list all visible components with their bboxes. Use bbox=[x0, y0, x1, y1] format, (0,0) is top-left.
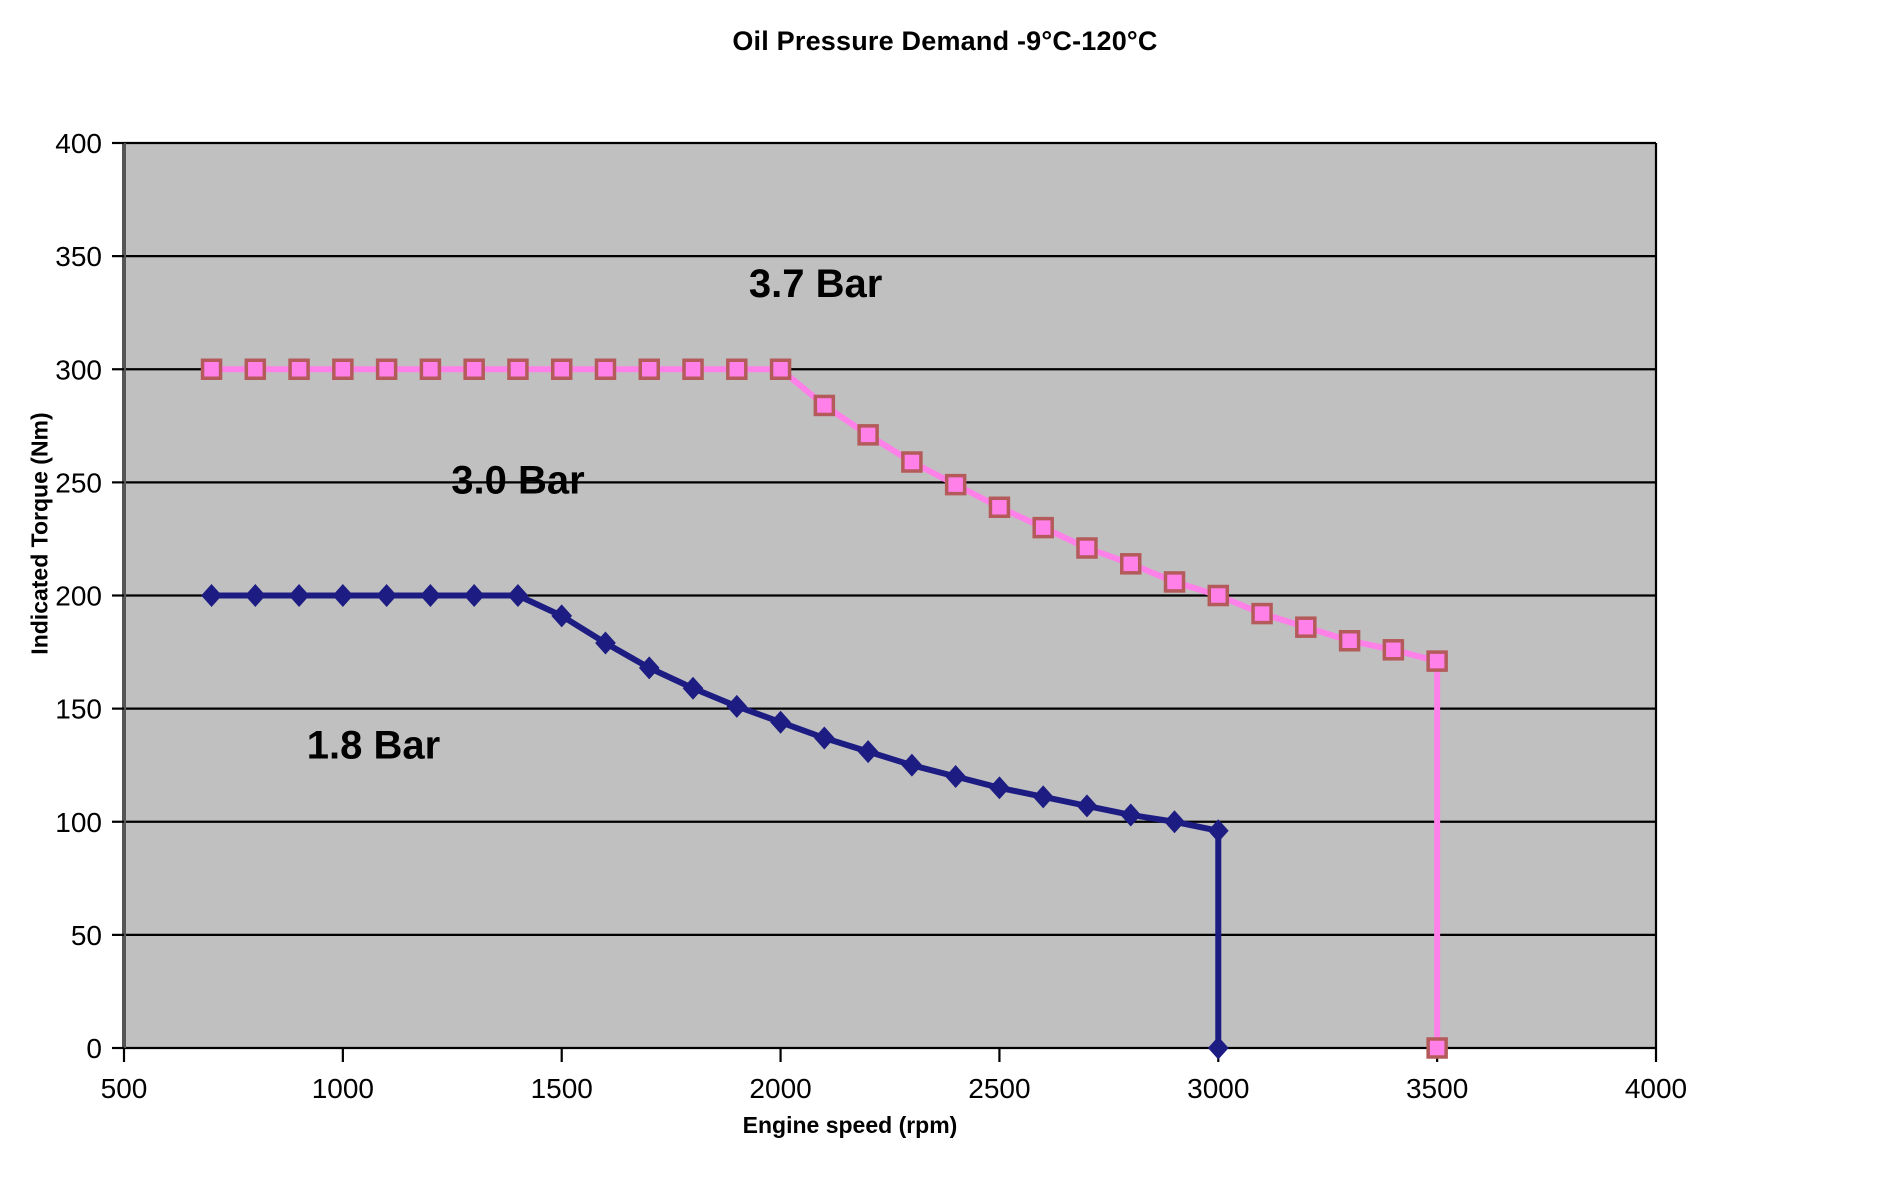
y-tick-label: 0 bbox=[86, 1033, 102, 1064]
x-tick-label: 2000 bbox=[749, 1073, 811, 1104]
series-marker-1 bbox=[334, 360, 352, 378]
annotation-label: 3.0 Bar bbox=[451, 459, 584, 503]
series-marker-1 bbox=[815, 396, 833, 414]
x-tick-label: 3000 bbox=[1187, 1073, 1249, 1104]
annotation-label: 3.7 Bar bbox=[749, 262, 882, 306]
y-tick-label: 300 bbox=[55, 354, 102, 385]
y-tick-label: 150 bbox=[55, 694, 102, 725]
series-marker-1 bbox=[772, 360, 790, 378]
series-marker-1 bbox=[1384, 641, 1402, 659]
series-marker-1 bbox=[1122, 555, 1140, 573]
series-marker-1 bbox=[1034, 519, 1052, 537]
series-marker-1 bbox=[1078, 539, 1096, 557]
series-marker-1 bbox=[1297, 618, 1315, 636]
series-marker-1 bbox=[553, 360, 571, 378]
y-axis-title: Indicated Torque (Nm) bbox=[27, 384, 54, 684]
y-tick-label: 50 bbox=[71, 920, 102, 951]
series-marker-1 bbox=[1209, 587, 1227, 605]
x-axis-title: Engine speed (rpm) bbox=[0, 1112, 1700, 1139]
series-endpoint-marker-1 bbox=[1428, 1039, 1446, 1057]
series-marker-1 bbox=[465, 360, 483, 378]
chart-container: Oil Pressure Demand -9°C-120°C 050100150… bbox=[0, 0, 1890, 1181]
series-marker-1 bbox=[1253, 605, 1271, 623]
plot-area: 0501001502002503003504005001000150020002… bbox=[0, 0, 1890, 1181]
series-marker-1 bbox=[684, 360, 702, 378]
y-tick-label: 100 bbox=[55, 807, 102, 838]
y-tick-label: 400 bbox=[55, 128, 102, 159]
y-tick-label: 250 bbox=[55, 467, 102, 498]
series-marker-1 bbox=[640, 360, 658, 378]
series-marker-1 bbox=[859, 426, 877, 444]
series-marker-1 bbox=[421, 360, 439, 378]
x-tick-label: 500 bbox=[101, 1073, 148, 1104]
series-marker-1 bbox=[1428, 652, 1446, 670]
y-tick-label: 350 bbox=[55, 241, 102, 272]
series-marker-1 bbox=[509, 360, 527, 378]
series-marker-1 bbox=[378, 360, 396, 378]
y-tick-label: 200 bbox=[55, 581, 102, 612]
series-marker-1 bbox=[1166, 573, 1184, 591]
series-marker-1 bbox=[246, 360, 264, 378]
series-marker-1 bbox=[990, 498, 1008, 516]
series-marker-1 bbox=[728, 360, 746, 378]
series-marker-1 bbox=[947, 476, 965, 494]
x-tick-label: 2500 bbox=[968, 1073, 1030, 1104]
series-marker-1 bbox=[596, 360, 614, 378]
annotation-label: 1.8 Bar bbox=[307, 723, 440, 767]
series-marker-1 bbox=[1341, 632, 1359, 650]
series-marker-1 bbox=[203, 360, 221, 378]
series-marker-1 bbox=[903, 453, 921, 471]
series-marker-1 bbox=[290, 360, 308, 378]
x-tick-label: 3500 bbox=[1406, 1073, 1468, 1104]
x-tick-label: 1500 bbox=[531, 1073, 593, 1104]
x-tick-label: 1000 bbox=[312, 1073, 374, 1104]
x-tick-label: 4000 bbox=[1625, 1073, 1687, 1104]
